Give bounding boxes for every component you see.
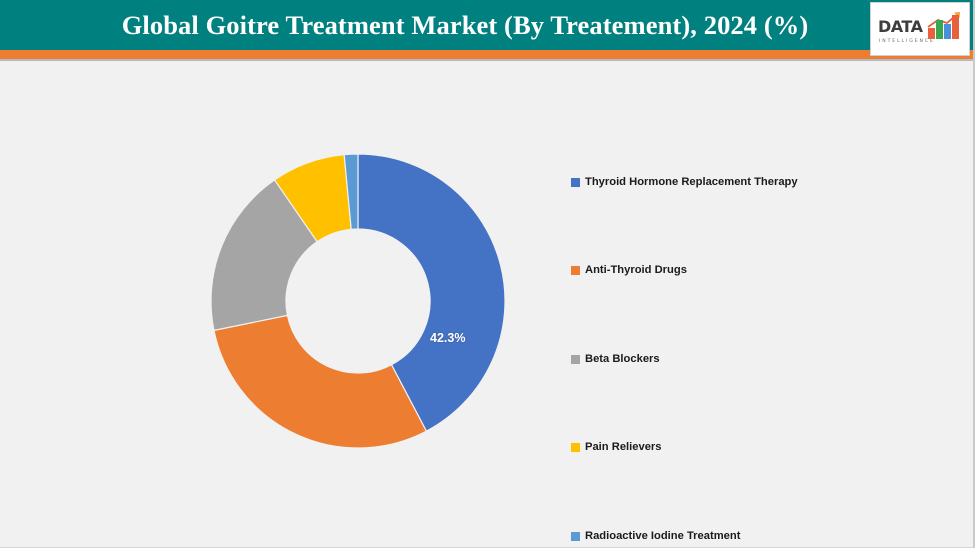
chart-plot-area: 42.3% Thyroid Hormone Replacement Therap… (0, 61, 975, 548)
donut-slice-group (211, 154, 505, 448)
header-accent-bar (0, 50, 975, 59)
legend-item[interactable]: Anti-Thyroid Drugs (571, 263, 687, 277)
logo-tagline: INTELLIGENCE (879, 39, 935, 44)
logo-bar-1 (928, 28, 935, 39)
donut-slice[interactable] (214, 315, 426, 448)
logo-bar-4 (952, 15, 959, 39)
legend-swatch-icon (571, 178, 580, 187)
legend-item[interactable]: Pain Relievers (571, 440, 662, 454)
legend-item-label: Thyroid Hormone Replacement Therapy (585, 176, 798, 188)
legend-item-label: Anti-Thyroid Drugs (585, 264, 687, 276)
legend-item-label: Pain Relievers (585, 441, 662, 453)
brand-logo[interactable]: DATA INTELLIGENCE (870, 2, 970, 56)
donut-chart-svg (198, 141, 518, 461)
legend-item-label: Beta Blockers (585, 353, 660, 365)
legend-item[interactable]: Thyroid Hormone Replacement Therapy (571, 175, 798, 189)
legend-swatch-icon (571, 532, 580, 541)
legend-swatch-icon (571, 443, 580, 452)
donut-chart (198, 141, 518, 461)
chart-page: Global Goitre Treatment Market (By Treat… (0, 0, 975, 548)
slice-data-label: 42.3% (430, 331, 465, 345)
legend-item[interactable]: Beta Blockers (571, 352, 660, 366)
logo-wordmark: DATA (878, 17, 922, 36)
legend-swatch-icon (571, 355, 580, 364)
logo-bar-2 (936, 20, 943, 39)
legend-swatch-icon (571, 266, 580, 275)
page-title: Global Goitre Treatment Market (By Treat… (60, 0, 870, 50)
logo-bar-3 (944, 24, 951, 39)
legend-item[interactable]: Radioactive Iodine Treatment (571, 529, 740, 543)
logo-inner: DATA INTELLIGENCE (871, 3, 969, 55)
legend-item-label: Radioactive Iodine Treatment (585, 530, 740, 542)
